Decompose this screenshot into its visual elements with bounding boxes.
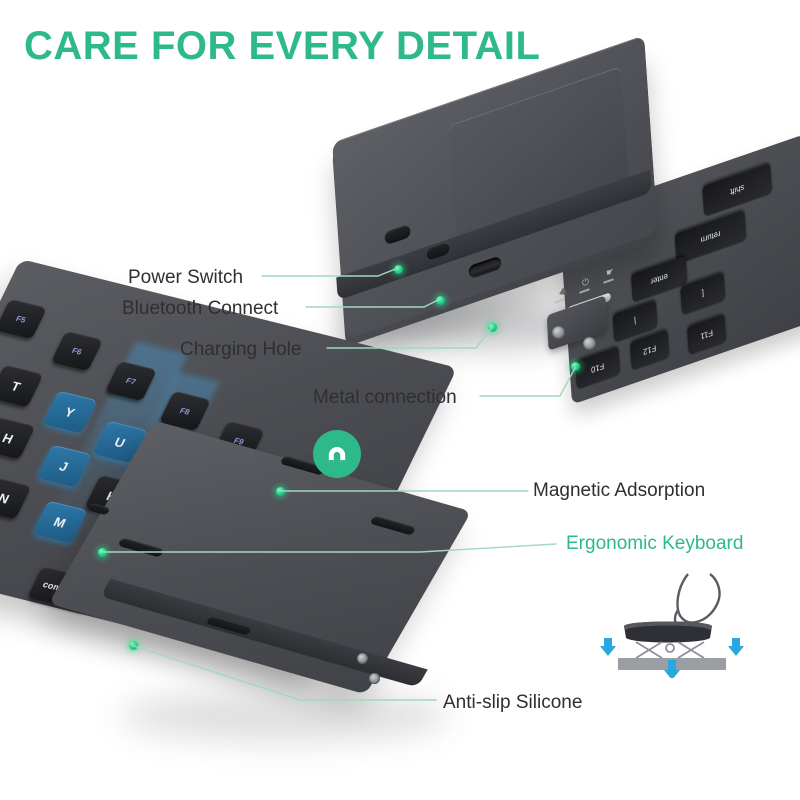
callout-label-magnetic-adsorption: Magnetic Adsorption	[533, 480, 705, 502]
callout-label-power-switch: Power Switch	[128, 267, 243, 289]
bottom-device-top-face	[49, 421, 472, 695]
callout-label-ergonomic-keyboard: Ergonomic Keyboard	[566, 533, 743, 555]
callout-label-anti-slip-silicone: Anti-slip Silicone	[443, 692, 582, 714]
marker-dot-magnetic	[276, 487, 285, 496]
indicator-dash-3	[603, 278, 614, 284]
callout-label-charging-hole: Charging Hole	[180, 339, 301, 361]
callout-label-bluetooth-connect: Bluetooth Connect	[122, 298, 278, 320]
bottom-hinge-screw-1	[357, 653, 368, 664]
magnet-icon	[313, 430, 361, 478]
bottom-device-folded-half	[95, 455, 525, 785]
key-press-illustration	[592, 568, 752, 678]
marker-dot-metal-connection	[571, 362, 580, 371]
indicator-dash-2	[579, 288, 590, 294]
marker-dot-bluetooth	[436, 296, 445, 305]
hinge-screw-left	[552, 326, 565, 339]
battery-icon: 🔌	[557, 286, 569, 299]
page-title: CARE FOR EVERY DETAIL	[24, 24, 540, 69]
marker-dot-ergonomic	[98, 548, 107, 557]
marker-dot-charging-hole	[488, 323, 497, 332]
bottom-hinge-screw-2	[369, 673, 380, 684]
bluetooth-icon: ☛	[606, 267, 615, 279]
indicator-dash-1	[554, 298, 565, 304]
infographic-canvas: CARE FOR EVERY DETAIL shiftreturnenter|[…	[0, 0, 800, 800]
marker-dot-anti-slip	[129, 641, 138, 650]
marker-dot-power-switch	[394, 265, 403, 274]
callout-label-metal-connection: Metal connection	[313, 387, 457, 409]
hinge-screw-right	[583, 337, 596, 350]
power-icon: ⏻	[582, 277, 590, 288]
